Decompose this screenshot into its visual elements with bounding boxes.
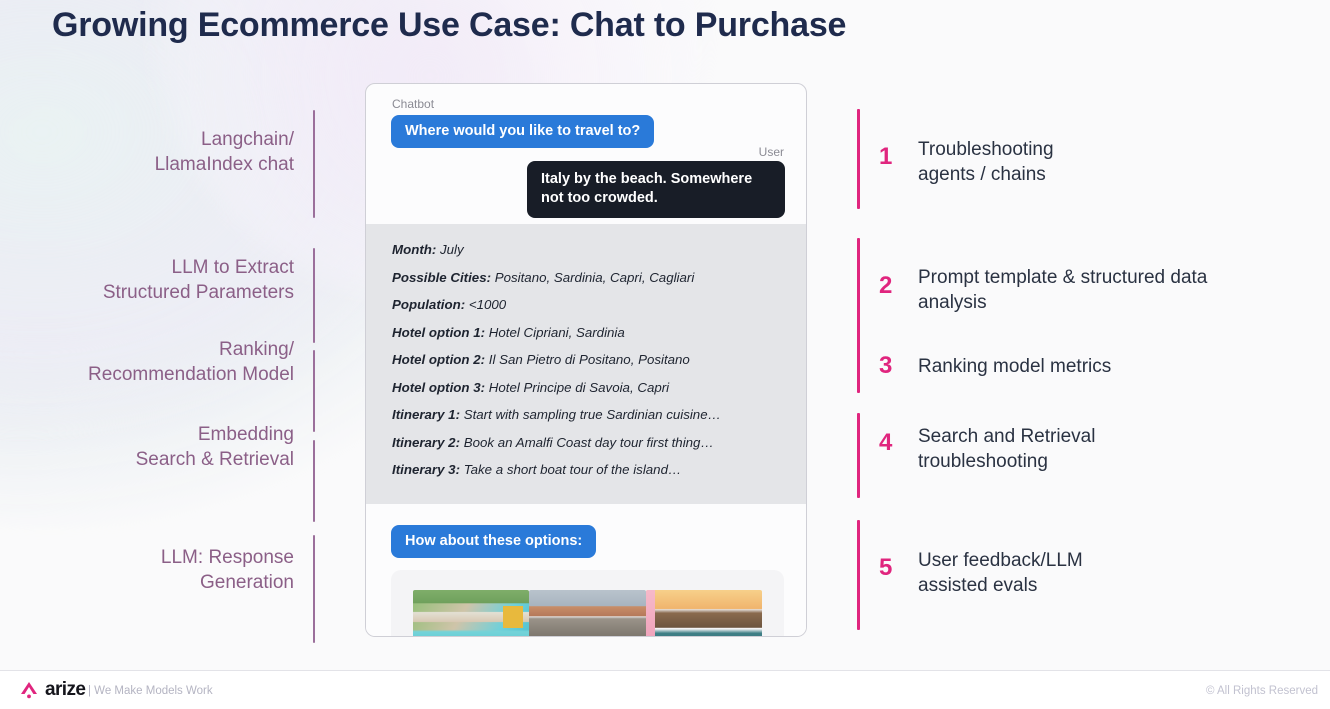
page-title: Growing Ecommerce Use Case: Chat to Purc… (52, 6, 846, 45)
parameter-row: Itinerary 1: Start with sampling true Sa… (366, 407, 806, 422)
recommendation-thumbnail-tray (391, 570, 784, 637)
parameter-key: Itinerary 2: (392, 435, 460, 450)
parameter-value: Start with sampling true Sardinian cuisi… (464, 407, 721, 422)
parameter-value: Positano, Sardinia, Capri, Cagliari (495, 270, 695, 285)
right-rule-2 (857, 238, 860, 338)
parameter-row: Month: July (366, 242, 806, 257)
right-item-number-5: 5 (879, 554, 892, 582)
chat-mockup-card: Chatbot Where would you like to travel t… (365, 83, 807, 637)
parameter-row: Possible Cities: Positano, Sardinia, Cap… (366, 270, 806, 285)
parameter-value: July (440, 242, 464, 257)
parameter-value: Take a short boat tour of the island… (464, 462, 682, 477)
copyright-notice: © All Rights Reserved (1206, 685, 1318, 697)
right-item-number-1: 1 (879, 143, 892, 171)
left-stage-label-1: Langchain/ LlamaIndex chat (155, 127, 294, 178)
right-rule-3 (857, 331, 860, 393)
right-item-label-2: Prompt template & structured data analys… (918, 265, 1318, 316)
chat-response-area: How about these options: (366, 504, 806, 636)
parameter-key: Possible Cities: (392, 270, 491, 285)
parameter-row: Population: <1000 (366, 297, 806, 312)
parameter-row: Hotel option 1: Hotel Cipriani, Sardinia (366, 325, 806, 340)
chatbot-speaker-label: Chatbot (392, 97, 434, 111)
brand-logo: arize (18, 679, 85, 701)
footer-bar: arize | We Make Models Work © All Rights… (0, 670, 1330, 709)
left-stage-label-4: Embedding Search & Retrieval (136, 422, 294, 473)
parameter-key: Hotel option 3: (392, 380, 485, 395)
right-rule-5 (857, 520, 860, 630)
left-stage-label-2: LLM to Extract Structured Parameters (103, 255, 294, 306)
parameter-row: Itinerary 2: Book an Amalfi Coast day to… (366, 435, 806, 450)
parameter-value: <1000 (469, 297, 506, 312)
right-item-number-3: 3 (879, 352, 892, 380)
left-rule-4 (313, 440, 315, 522)
parameter-key: Itinerary 1: (392, 407, 460, 422)
left-stage-label-5: LLM: Response Generation (161, 545, 294, 596)
left-rule-5 (313, 535, 315, 643)
left-rule-2 (313, 248, 315, 343)
cliff-village-photo[interactable] (529, 590, 645, 637)
parameter-key: Population: (392, 297, 465, 312)
parameter-row: Hotel option 2: Il San Pietro di Positan… (366, 352, 806, 367)
brand-tagline: | We Make Models Work (88, 685, 213, 697)
options-message-bubble: How about these options: (391, 525, 596, 558)
right-item-label-5: User feedback/LLM assisted evals (918, 548, 1318, 599)
parameter-key: Month: (392, 242, 436, 257)
right-item-label-3: Ranking model metrics (918, 354, 1318, 379)
parameter-key: Hotel option 2: (392, 352, 485, 367)
parameter-row: Itinerary 3: Take a short boat tour of t… (366, 462, 806, 477)
right-rule-1 (857, 109, 860, 209)
sunset-coast-photo[interactable] (646, 590, 762, 637)
left-rule-1 (313, 110, 315, 218)
right-item-label-1: Troubleshooting agents / chains (918, 137, 1318, 188)
right-rule-4 (857, 413, 860, 498)
user-speaker-label: User (759, 145, 784, 159)
parameter-row: Hotel option 3: Hotel Principe di Savoia… (366, 380, 806, 395)
parameter-value: Hotel Principe di Savoia, Capri (489, 380, 669, 395)
structured-parameters-panel: Month: July Possible Cities: Positano, S… (366, 224, 806, 504)
user-message-bubble: Italy by the beach. Somewhere not too cr… (527, 161, 785, 218)
parameter-value: Il San Pietro di Positano, Positano (489, 352, 690, 367)
brand-name: arize (45, 679, 85, 701)
parameter-key: Itinerary 3: (392, 462, 460, 477)
right-item-number-4: 4 (879, 429, 892, 457)
parameter-value: Book an Amalfi Coast day tour first thin… (464, 435, 714, 450)
coastal-beach-photo[interactable] (413, 590, 529, 637)
arize-chevron-logo-icon (18, 680, 40, 700)
parameter-key: Hotel option 1: (392, 325, 485, 340)
right-item-label-4: Search and Retrieval troubleshooting (918, 424, 1318, 475)
left-rule-3 (313, 350, 315, 432)
parameter-value: Hotel Cipriani, Sardinia (489, 325, 625, 340)
chat-conversation-area: Chatbot Where would you like to travel t… (366, 84, 806, 224)
left-stage-label-3: Ranking/ Recommendation Model (88, 337, 294, 388)
right-item-number-2: 2 (879, 272, 892, 300)
chatbot-message-bubble: Where would you like to travel to? (391, 115, 654, 148)
